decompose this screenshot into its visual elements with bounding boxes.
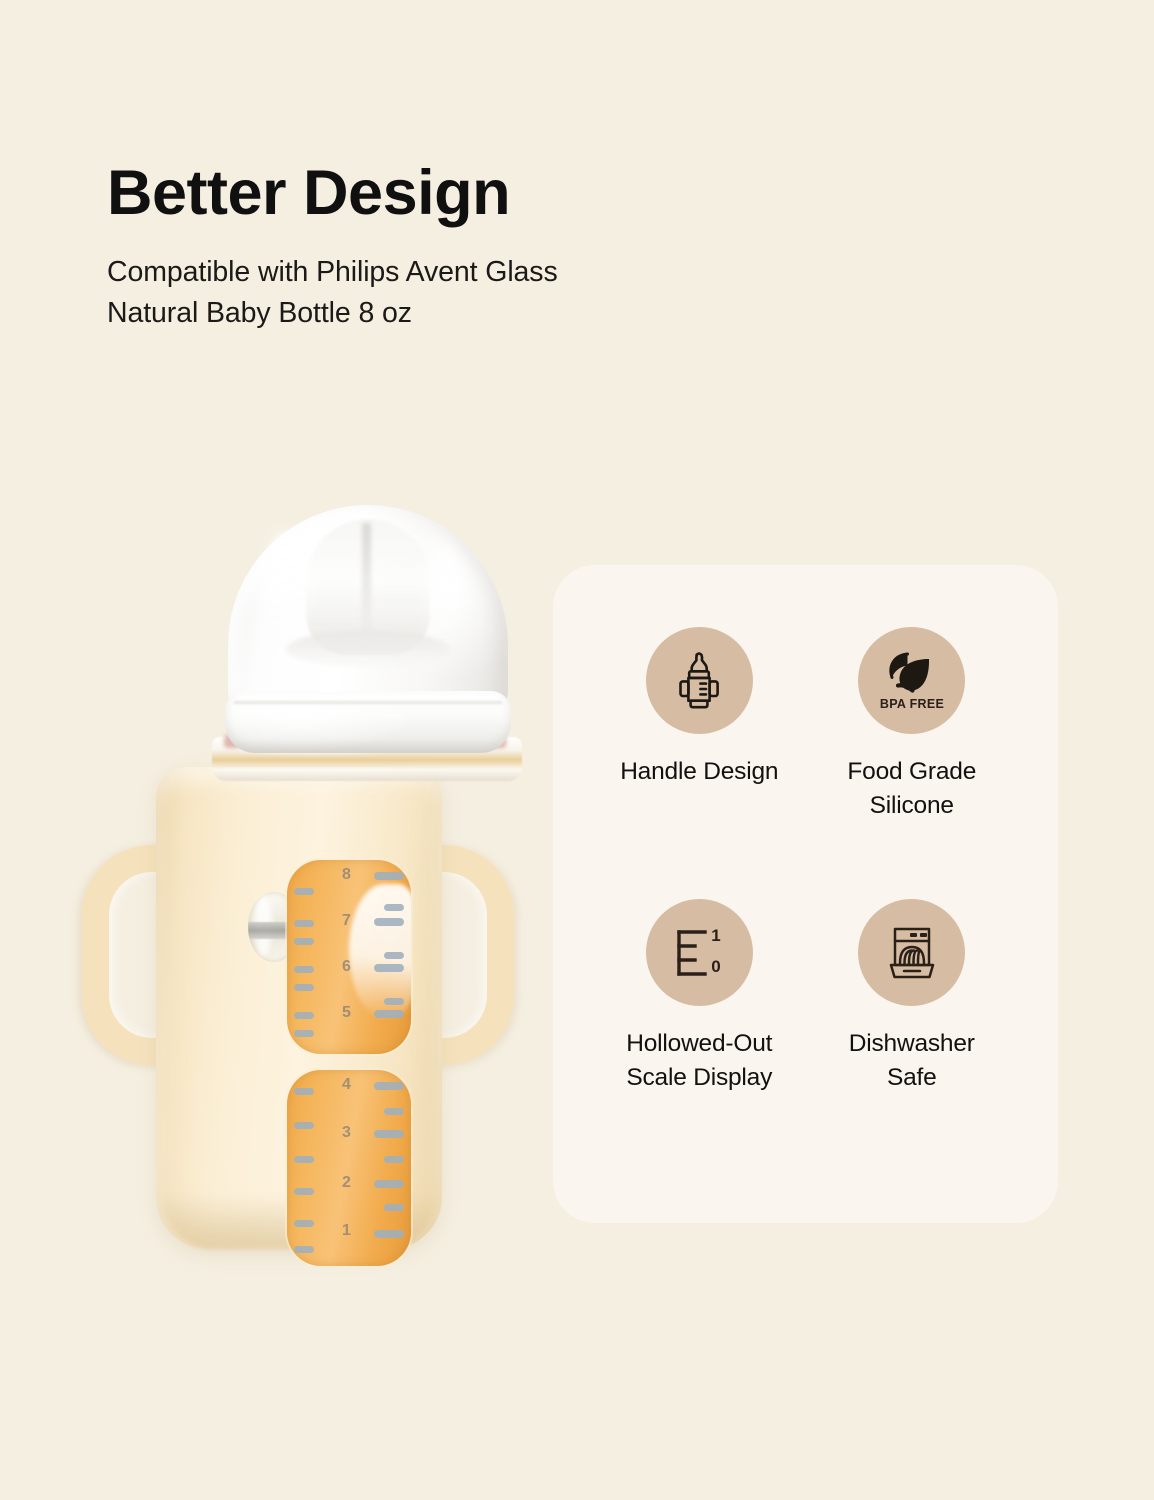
tick	[374, 964, 404, 972]
tick	[294, 920, 314, 927]
tick	[294, 888, 314, 895]
nipple-cleft	[362, 523, 371, 643]
scale-number: 8	[342, 866, 350, 884]
feature-item-hollowed-out-scale: 1 0 Hollowed-Out Scale Display	[593, 899, 806, 1171]
tick	[294, 1088, 314, 1095]
feature-item-handle-design: Handle Design	[593, 627, 806, 899]
feature-label: Handle Design	[620, 755, 778, 789]
feature-label: Food Grade Silicone	[847, 755, 976, 823]
scale-number: 2	[342, 1174, 350, 1192]
collar-seam	[234, 701, 502, 704]
tick	[374, 1130, 404, 1138]
tick	[294, 1246, 314, 1253]
tick	[374, 1082, 404, 1090]
scale-top-digit: 1	[712, 926, 721, 945]
feature-icon-circle: BPA FREE	[858, 627, 965, 734]
scale-number: 1	[342, 1222, 350, 1240]
feature-icon-circle	[858, 899, 965, 1006]
bpa-free-leaf-icon: BPA FREE	[877, 649, 947, 713]
tick	[374, 1180, 404, 1188]
cap-gloss-left	[262, 531, 312, 649]
feature-label: Hollowed-Out Scale Display	[626, 1027, 772, 1095]
page-subtitle: Compatible with Philips Avent Glass Natu…	[107, 252, 807, 334]
subtitle-line-2: Natural Baby Bottle 8 oz	[107, 293, 807, 334]
tick	[384, 952, 404, 959]
tick	[384, 998, 404, 1005]
scale-bottom-digit: 0	[712, 957, 721, 976]
tick	[384, 1108, 404, 1115]
product-image-baby-bottle: 8 7 6 5 4 3 2 1	[88, 505, 508, 1295]
lower-scale-window: 4 3 2 1	[287, 1070, 411, 1266]
feature-label: Dishwasher Safe	[849, 1027, 975, 1095]
tick	[374, 1230, 404, 1238]
bpa-free-text: BPA FREE	[880, 697, 944, 711]
scale-number: 3	[342, 1124, 350, 1142]
tick	[384, 1204, 404, 1211]
tick	[384, 1156, 404, 1163]
nipple-base	[286, 631, 450, 667]
tick	[294, 938, 314, 945]
bottle-cap-assembly	[228, 505, 508, 750]
scale-number: 4	[342, 1076, 350, 1094]
feature-item-dishwasher-safe: Dishwasher Safe	[806, 899, 1019, 1171]
tick	[294, 984, 314, 991]
cap-gloss-right	[424, 545, 464, 649]
feature-item-food-grade-silicone: BPA FREE Food Grade Silicone	[806, 627, 1019, 899]
tick	[294, 1122, 314, 1129]
tick	[294, 966, 314, 973]
page-title: Better Design	[107, 160, 807, 226]
scale-number: 7	[342, 912, 350, 930]
tick	[294, 1156, 314, 1163]
feature-icon-circle: 1 0	[646, 899, 753, 1006]
feature-icon-circle	[646, 627, 753, 734]
tick	[294, 1220, 314, 1227]
tick	[374, 1010, 404, 1018]
upper-scale-window: 8 7 6 5	[287, 860, 411, 1054]
tick	[294, 1188, 314, 1195]
feature-grid: Handle Design BPA FREE Food Grade S	[553, 565, 1058, 1223]
tick	[294, 1012, 314, 1019]
measuring-scale-icon: 1 0	[669, 924, 729, 982]
scale-number: 5	[342, 1004, 350, 1022]
tick	[294, 1030, 314, 1037]
tick	[374, 918, 404, 926]
header-block: Better Design Compatible with Philips Av…	[107, 160, 807, 334]
tick	[374, 872, 404, 880]
dishwasher-icon	[880, 923, 944, 983]
feature-panel: Handle Design BPA FREE Food Grade S	[553, 565, 1058, 1223]
subtitle-line-1: Compatible with Philips Avent Glass	[107, 252, 807, 293]
scale-number: 6	[342, 958, 350, 976]
baby-bottle-icon	[670, 650, 728, 712]
tick	[384, 904, 404, 911]
